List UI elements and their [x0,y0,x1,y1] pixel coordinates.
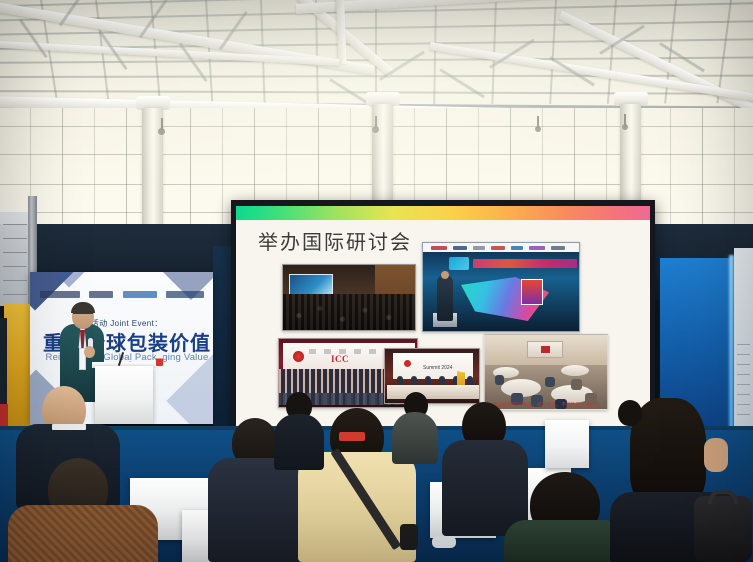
red-equipment-accent [0,404,8,426]
audience-body [8,505,158,562]
fixture-arm [624,114,626,126]
slide-photo-forum-keynote [422,242,580,332]
slide-photo-auditorium [282,264,416,331]
fixture-arm [375,116,377,128]
jacket-collar-text [52,424,86,430]
audience-body [208,458,304,562]
audience-head [618,400,642,426]
summit-emblem [404,360,411,367]
forum-headline-text [473,259,577,268]
far-right-panel [734,248,753,448]
icc-emblem [293,351,304,362]
water-bottle [156,352,163,366]
presenter-glasses [73,313,93,317]
backpack-handle [708,490,738,504]
speaker-podium [95,366,153,424]
exhibition-hall-scene: 举办国际研讨会 [0,0,753,562]
summit-screen-text: Summit 2024 [423,365,452,371]
forum-speaker-head [441,271,449,279]
cube-stool[interactable] [545,420,589,468]
left-wall-panel [0,212,30,306]
auditorium-seats [283,294,415,330]
icc-logo-text: ICC [331,354,349,364]
audience-body [504,520,626,562]
auditorium-stage-screen [289,274,333,296]
slide-title: 举办国际研讨会 [258,226,412,255]
audience-lanyard [339,432,365,441]
summit-panel-table [387,385,479,399]
presenter-hand [84,346,95,358]
slide-photo-summit-panel: Summit 2024 [384,348,480,404]
roundtable-caption: 活动由APTEC举办，吸引各地、不同阶层业界参加 [485,402,607,408]
slide-gradient-bar [236,206,650,220]
hall-column [142,108,163,232]
audience-shoe [432,536,456,548]
forum-side-card [521,279,543,305]
roundtable-screen-emblem [541,346,550,353]
banner-sponsor-logos [40,290,204,299]
forum-logo-mark [449,257,469,270]
slide-photo-roundtable: 活动由APTEC举办，吸引各地、不同阶层业界参加 [484,334,608,410]
audience-backpack [694,496,752,562]
audience-body [392,412,438,464]
stage-divider-panel [213,246,233,444]
audience-wristband [400,524,418,550]
audience-hand-raised [704,438,728,472]
audience-body [274,414,324,470]
hall-ceiling [0,0,753,232]
forum-sponsor-bar [423,243,579,252]
fixture-arm [161,118,163,130]
forum-speaker-body [437,275,453,321]
fixture-arm [537,116,539,128]
